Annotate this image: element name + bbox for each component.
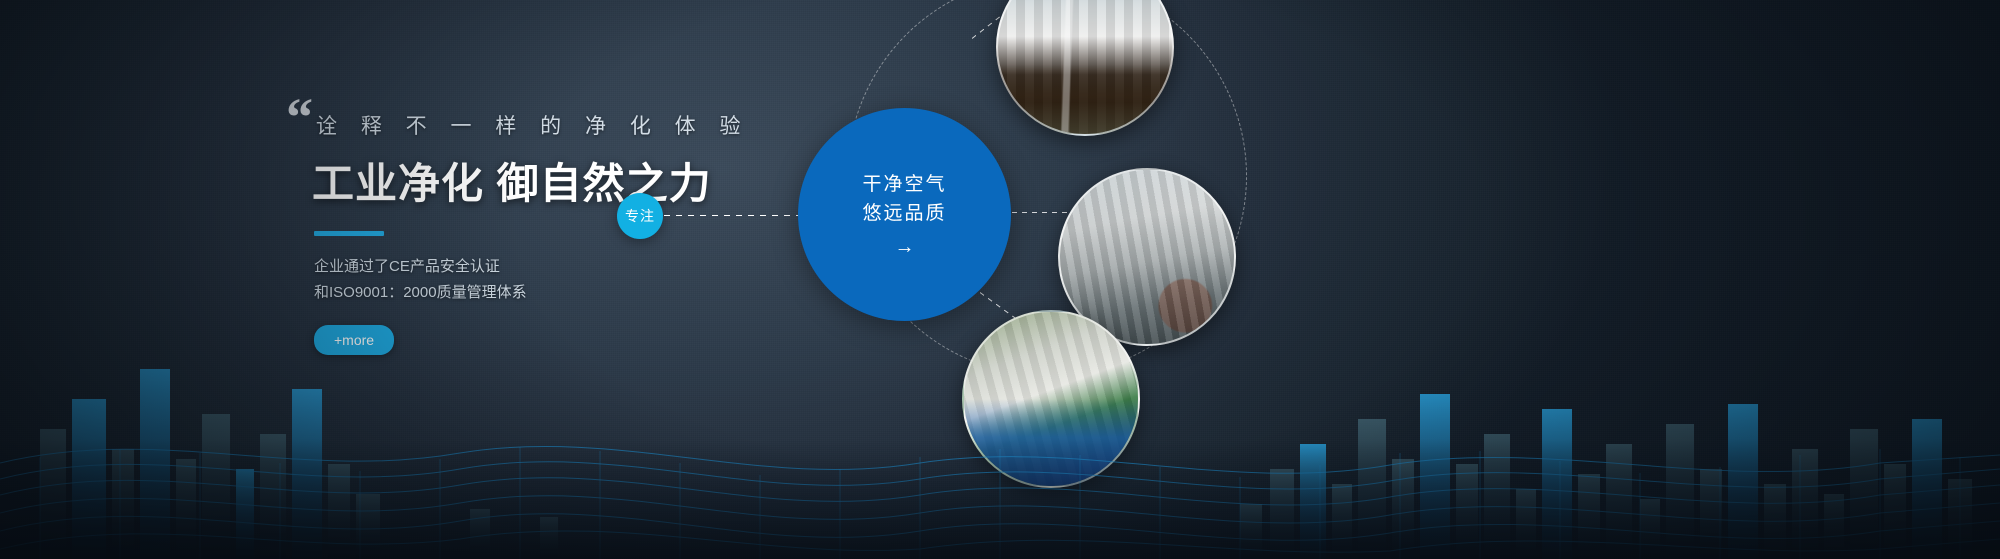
quote-mark-icon: “ — [286, 96, 313, 139]
focus-badge[interactable]: 专注 — [617, 193, 663, 239]
connector-line-focus — [664, 215, 800, 216]
arrow-right-icon: → — [895, 236, 915, 259]
hero-banner: “ 诠 释 不 一 样 的 净 化 体 验 工业净化 御自然之力 企业通过了CE… — [0, 0, 2000, 559]
main-circle-line-1: 干净空气 — [862, 170, 946, 199]
main-circle-line-2: 悠远品质 — [862, 199, 946, 228]
accent-rule — [314, 231, 384, 236]
wireframe-terrain — [0, 329, 2000, 559]
photo-factory-interior[interactable] — [996, 0, 1174, 136]
